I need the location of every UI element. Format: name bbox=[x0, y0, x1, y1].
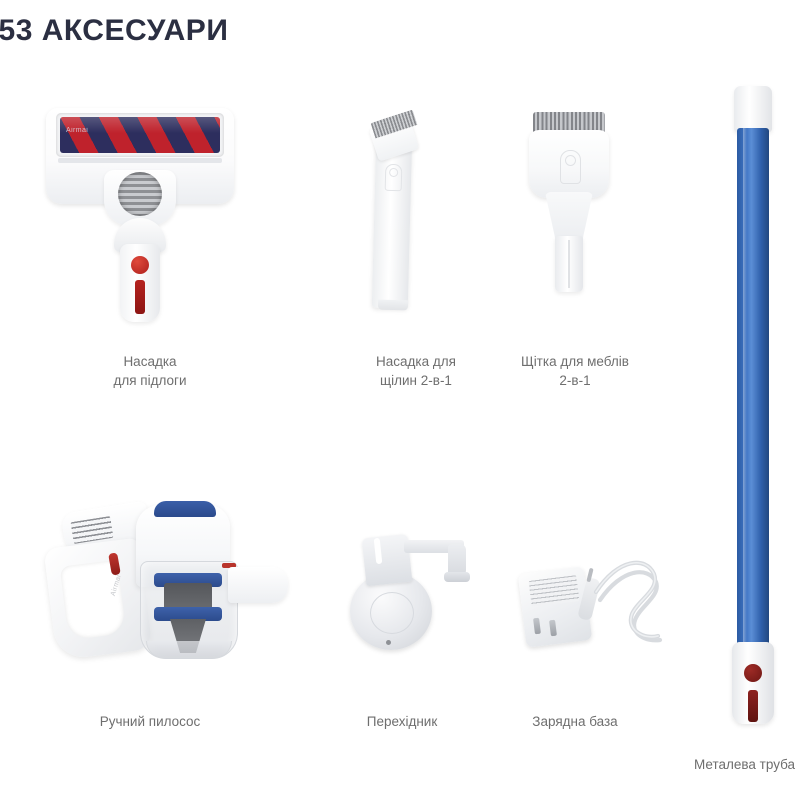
furniture-brush-icon[interactable] bbox=[515, 110, 625, 295]
adapter-label: Перехідник bbox=[318, 712, 486, 731]
floor-nozzle-release-button bbox=[131, 256, 149, 274]
furniture-brush-keyhole bbox=[560, 150, 581, 184]
handheld-outlet-port bbox=[228, 567, 288, 603]
furniture-brush-taper bbox=[545, 192, 593, 240]
adapter-inner-circle bbox=[370, 592, 414, 634]
adapter-arm-lip bbox=[444, 572, 470, 582]
handheld-blue-cap bbox=[154, 501, 216, 517]
floor-nozzle-lip bbox=[58, 158, 222, 163]
charging-base-label: Зарядна база bbox=[490, 712, 660, 731]
crevice-tool-keyhole bbox=[385, 164, 403, 191]
roller-brand-logo: Airmai bbox=[66, 127, 88, 134]
crevice-tool-label: Насадка для щілин 2-в-1 bbox=[332, 352, 500, 390]
floor-nozzle-roller-housing: Airmai bbox=[56, 113, 224, 157]
floor-nozzle-icon[interactable]: Airmai bbox=[40, 108, 240, 328]
metal-tube-release-button bbox=[744, 664, 762, 682]
accessories-page: V53 АКСЕСУАРИ Airmai Насадка для підлоги… bbox=[0, 0, 800, 800]
crevice-tool-tip bbox=[378, 300, 408, 311]
metal-tube-icon[interactable] bbox=[722, 86, 782, 746]
adapter-screw-bottom bbox=[386, 640, 391, 645]
metal-tube-label: Металева труба bbox=[694, 755, 800, 774]
handheld-blue-ring-lower bbox=[154, 607, 222, 621]
metal-tube-top-cap bbox=[734, 86, 772, 132]
charger-cable bbox=[588, 552, 664, 644]
furniture-brush-seam bbox=[568, 240, 570, 288]
floor-nozzle-roller-brush bbox=[60, 117, 220, 153]
handheld-vacuum-label: Ручний пилосос bbox=[62, 712, 238, 731]
charging-base-icon[interactable] bbox=[516, 548, 666, 658]
furniture-brush-label: Щітка для меблів 2-в-1 bbox=[490, 352, 660, 390]
adapter-icon[interactable] bbox=[348, 528, 478, 653]
handheld-cup-base bbox=[146, 641, 232, 658]
metal-tube-slot bbox=[748, 690, 758, 722]
metal-tube-shaft bbox=[737, 128, 769, 648]
floor-nozzle-slot bbox=[135, 280, 145, 314]
floor-nozzle-label: Насадка для підлоги bbox=[62, 352, 238, 390]
floor-nozzle-bellow bbox=[118, 172, 162, 216]
handheld-vacuum-icon[interactable]: Airmai bbox=[50, 495, 315, 670]
crevice-tool-body bbox=[372, 136, 412, 309]
crevice-tool-icon[interactable] bbox=[352, 112, 438, 312]
page-title: V53 АКСЕСУАРИ bbox=[0, 14, 228, 48]
